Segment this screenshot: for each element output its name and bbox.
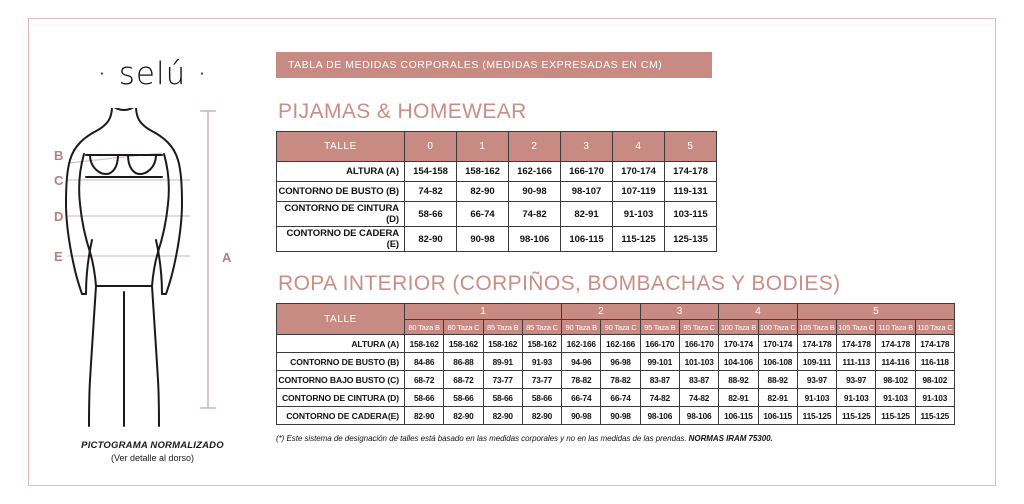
table-cell: 58-66 bbox=[444, 389, 483, 407]
table2-subcol-header-3: 85 Taza C bbox=[522, 320, 561, 335]
table-cell: 82-91 bbox=[719, 389, 758, 407]
table-cell: 82-90 bbox=[483, 407, 522, 425]
table-cell: 104-106 bbox=[719, 353, 758, 371]
table-cell: 74-82 bbox=[405, 182, 457, 202]
table-row: CONTORNO BAJO BUSTO (C)68-7268-7273-7773… bbox=[277, 371, 955, 389]
table-cell: 98-106 bbox=[640, 407, 679, 425]
table-cell: 66-74 bbox=[601, 389, 640, 407]
footnote: (*) Este sistema de designación de talle… bbox=[276, 434, 976, 443]
table-cell: 82-90 bbox=[444, 407, 483, 425]
table1-header-row: TALLE012345 bbox=[277, 132, 717, 162]
row-label: CONTORNO DE BUSTO (B) bbox=[277, 353, 405, 371]
table-cell: 162-166 bbox=[601, 335, 640, 353]
table2-subcol-header-9: 100 Taza C bbox=[758, 320, 797, 335]
table2-group-header-1: 2 bbox=[562, 304, 641, 320]
table-cell: 98-102 bbox=[915, 371, 954, 389]
table-cell: 82-91 bbox=[561, 202, 613, 227]
table-cell: 91-103 bbox=[915, 389, 954, 407]
table-cell: 68-72 bbox=[444, 371, 483, 389]
table-cell: 66-74 bbox=[457, 202, 509, 227]
table-cell: 94-96 bbox=[562, 353, 601, 371]
table-cell: 162-166 bbox=[509, 162, 561, 182]
table-cell: 174-178 bbox=[797, 335, 836, 353]
table-row: CONTORNO DE CADERA(E)82-9082-9082-9082-9… bbox=[277, 407, 955, 425]
table2-subcol-header-0: 80 Taza B bbox=[405, 320, 444, 335]
table-cell: 83-87 bbox=[679, 371, 718, 389]
table-cell: 125-135 bbox=[665, 227, 717, 252]
table2-subcol-header-10: 105 Taza B bbox=[797, 320, 836, 335]
table-cell: 115-125 bbox=[876, 407, 915, 425]
table-cell: 58-66 bbox=[405, 202, 457, 227]
table-cell: 158-162 bbox=[444, 335, 483, 353]
row-label: CONTORNO DE CADERA (E) bbox=[277, 227, 405, 252]
table-cell: 115-125 bbox=[915, 407, 954, 425]
table-cell: 74-82 bbox=[679, 389, 718, 407]
table1-head: TALLE012345 bbox=[277, 132, 717, 162]
table-cell: 58-66 bbox=[405, 389, 444, 407]
table-row: CONTORNO DE BUSTO (B)84-8686-8889-9191-9… bbox=[277, 353, 955, 371]
pictogram-label-b: B bbox=[54, 148, 63, 163]
table2-group-row: TALLE12345 bbox=[277, 304, 955, 320]
table2-subcol-header-8: 100 Taza B bbox=[719, 320, 758, 335]
table-cell: 91-103 bbox=[797, 389, 836, 407]
table-cell: 98-106 bbox=[509, 227, 561, 252]
table-cell: 115-125 bbox=[797, 407, 836, 425]
table-cell: 115-125 bbox=[613, 227, 665, 252]
table2-head: TALLE12345 80 Taza B80 Taza C85 Taza B85… bbox=[277, 304, 955, 335]
table-cell: 90-98 bbox=[457, 227, 509, 252]
table1-body: ALTURA (A)154-158158-162162-166166-17017… bbox=[277, 162, 717, 252]
table2-subcol-header-11: 105 Taza C bbox=[837, 320, 876, 335]
table-cell: 114-116 bbox=[876, 353, 915, 371]
table-cell: 93-97 bbox=[797, 371, 836, 389]
pictogram-label-a: A bbox=[222, 250, 232, 265]
table-row: ALTURA (A)158-162158-162158-162158-16216… bbox=[277, 335, 955, 353]
row-label: CONTORNO DE CINTURA (D) bbox=[277, 389, 405, 407]
table-cell: 88-92 bbox=[719, 371, 758, 389]
row-label: CONTORNO BAJO BUSTO (C) bbox=[277, 371, 405, 389]
table-cell: 116-118 bbox=[915, 353, 954, 371]
table-cell: 174-178 bbox=[665, 162, 717, 182]
table1-corner-header: TALLE bbox=[277, 132, 405, 162]
table-cell: 119-131 bbox=[665, 182, 717, 202]
table-cell: 90-98 bbox=[509, 182, 561, 202]
table-row: CONTORNO DE CADERA (E)82-9090-9898-10610… bbox=[277, 227, 717, 252]
table-cell: 170-174 bbox=[719, 335, 758, 353]
footnote-text: (*) Este sistema de designación de talle… bbox=[276, 434, 689, 443]
section1-title: PIJAMAS & HOMEWEAR bbox=[278, 100, 976, 124]
table-row: CONTORNO DE BUSTO (B)74-8282-9090-9898-1… bbox=[277, 182, 717, 202]
right-panel: TABLA DE MEDIDAS CORPORALES (MEDIDAS EXP… bbox=[276, 52, 976, 443]
table2-subcol-header-12: 110 Taza B bbox=[876, 320, 915, 335]
table-cell: 91-103 bbox=[837, 389, 876, 407]
table-cell: 83-87 bbox=[640, 371, 679, 389]
table1-col-header-4: 4 bbox=[613, 132, 665, 162]
table-cell: 166-170 bbox=[679, 335, 718, 353]
table-row: CONTORNO DE CINTURA (D)58-6666-7474-8282… bbox=[277, 202, 717, 227]
pictogram-caption-line1: PICTOGRAMA NORMALIZADO bbox=[40, 440, 265, 451]
banner-title: TABLA DE MEDIDAS CORPORALES (MEDIDAS EXP… bbox=[276, 52, 712, 78]
table-cell: 174-178 bbox=[876, 335, 915, 353]
table-cell: 73-77 bbox=[522, 371, 561, 389]
table-cell: 158-162 bbox=[483, 335, 522, 353]
table-cell: 103-115 bbox=[665, 202, 717, 227]
table-cell: 174-178 bbox=[915, 335, 954, 353]
table-cell: 74-82 bbox=[640, 389, 679, 407]
table-cell: 78-82 bbox=[562, 371, 601, 389]
table-cell: 82-91 bbox=[758, 389, 797, 407]
table-row: CONTORNO DE CINTURA (D)58-6658-6658-6658… bbox=[277, 389, 955, 407]
table-cell: 154-158 bbox=[405, 162, 457, 182]
row-label: ALTURA (A) bbox=[277, 162, 405, 182]
table-cell: 158-162 bbox=[457, 162, 509, 182]
table-cell: 106-115 bbox=[758, 407, 797, 425]
table2-subcol-header-13: 110 Taza C bbox=[915, 320, 954, 335]
table2-subcol-header-2: 85 Taza B bbox=[483, 320, 522, 335]
table-cell: 82-90 bbox=[522, 407, 561, 425]
size-chart-page: · selú · bbox=[0, 0, 1024, 504]
table1-col-header-1: 1 bbox=[457, 132, 509, 162]
table-ropa-interior: TALLE12345 80 Taza B80 Taza C85 Taza B85… bbox=[276, 303, 955, 425]
row-label: CONTORNO DE CINTURA (D) bbox=[277, 202, 405, 227]
table2-group-header-0: 1 bbox=[405, 304, 562, 320]
table-cell: 82-90 bbox=[405, 227, 457, 252]
table1-col-header-0: 0 bbox=[405, 132, 457, 162]
table-cell: 170-174 bbox=[613, 162, 665, 182]
table-cell: 158-162 bbox=[405, 335, 444, 353]
table-cell: 66-74 bbox=[562, 389, 601, 407]
table2-group-header-3: 4 bbox=[719, 304, 798, 320]
table-cell: 98-107 bbox=[561, 182, 613, 202]
table-cell: 170-174 bbox=[758, 335, 797, 353]
table-cell: 106-115 bbox=[561, 227, 613, 252]
table-cell: 58-66 bbox=[522, 389, 561, 407]
table-cell: 73-77 bbox=[483, 371, 522, 389]
table2-subcol-header-6: 95 Taza B bbox=[640, 320, 679, 335]
table2-subcol-header-5: 90 Taza C bbox=[601, 320, 640, 335]
row-label: CONTORNO DE BUSTO (B) bbox=[277, 182, 405, 202]
body-pictogram: B C D E A bbox=[40, 108, 265, 408]
table-cell: 91-103 bbox=[876, 389, 915, 407]
table-cell: 82-90 bbox=[405, 407, 444, 425]
table-cell: 106-108 bbox=[758, 353, 797, 371]
row-label: ALTURA (A) bbox=[277, 335, 405, 353]
table-cell: 86-88 bbox=[444, 353, 483, 371]
table-cell: 98-102 bbox=[876, 371, 915, 389]
table1-col-header-3: 3 bbox=[561, 132, 613, 162]
brand-logo: · selú · bbox=[40, 56, 265, 92]
table-cell: 99-101 bbox=[640, 353, 679, 371]
table2-subcol-header-4: 90 Taza B bbox=[562, 320, 601, 335]
table-cell: 111-113 bbox=[837, 353, 876, 371]
table-cell: 90-98 bbox=[601, 407, 640, 425]
table-cell: 91-93 bbox=[522, 353, 561, 371]
table-cell: 93-97 bbox=[837, 371, 876, 389]
table-cell: 166-170 bbox=[640, 335, 679, 353]
table-cell: 98-106 bbox=[679, 407, 718, 425]
table-cell: 115-125 bbox=[837, 407, 876, 425]
pictogram-svg: B C D E A bbox=[40, 108, 265, 438]
table-cell: 96-98 bbox=[601, 353, 640, 371]
table-cell: 84-86 bbox=[405, 353, 444, 371]
footnote-norm: NORMAS IRAM 75300. bbox=[689, 434, 773, 443]
pictogram-label-e: E bbox=[54, 249, 63, 264]
table-cell: 166-170 bbox=[561, 162, 613, 182]
table2-subcol-header-7: 95 Taza C bbox=[679, 320, 718, 335]
table-cell: 162-166 bbox=[562, 335, 601, 353]
table-cell: 78-82 bbox=[601, 371, 640, 389]
table-cell: 58-66 bbox=[483, 389, 522, 407]
pictogram-caption-line2: (Ver detalle al dorso) bbox=[40, 453, 265, 463]
table-cell: 109-111 bbox=[797, 353, 836, 371]
table1-col-header-5: 5 bbox=[665, 132, 717, 162]
table-cell: 158-162 bbox=[522, 335, 561, 353]
pictogram-caption: PICTOGRAMA NORMALIZADO (Ver detalle al d… bbox=[40, 440, 265, 463]
table2-body: ALTURA (A)158-162158-162158-162158-16216… bbox=[277, 335, 955, 425]
table1-col-header-2: 2 bbox=[509, 132, 561, 162]
left-panel: · selú · bbox=[40, 28, 265, 478]
table-row: ALTURA (A)154-158158-162162-166166-17017… bbox=[277, 162, 717, 182]
table-cell: 82-90 bbox=[457, 182, 509, 202]
section2-title: ROPA INTERIOR (CORPIÑOS, BOMBACHAS Y BOD… bbox=[278, 272, 976, 296]
table2-subcol-header-1: 80 Taza C bbox=[444, 320, 483, 335]
pictogram-label-c: C bbox=[54, 173, 64, 188]
table-cell: 91-103 bbox=[613, 202, 665, 227]
table-cell: 74-82 bbox=[509, 202, 561, 227]
row-label: CONTORNO DE CADERA(E) bbox=[277, 407, 405, 425]
table-cell: 107-119 bbox=[613, 182, 665, 202]
table2-group-header-2: 3 bbox=[640, 304, 719, 320]
table-cell: 101-103 bbox=[679, 353, 718, 371]
table-cell: 90-98 bbox=[562, 407, 601, 425]
table-cell: 174-178 bbox=[837, 335, 876, 353]
table-cell: 106-115 bbox=[719, 407, 758, 425]
table-cell: 88-92 bbox=[758, 371, 797, 389]
table-cell: 89-91 bbox=[483, 353, 522, 371]
table2-corner-header: TALLE bbox=[277, 304, 405, 335]
pictogram-label-d: D bbox=[54, 209, 63, 224]
table2-group-header-4: 5 bbox=[797, 304, 954, 320]
table-cell: 68-72 bbox=[405, 371, 444, 389]
table-pijamas-homewear: TALLE012345 ALTURA (A)154-158158-162162-… bbox=[276, 131, 717, 252]
